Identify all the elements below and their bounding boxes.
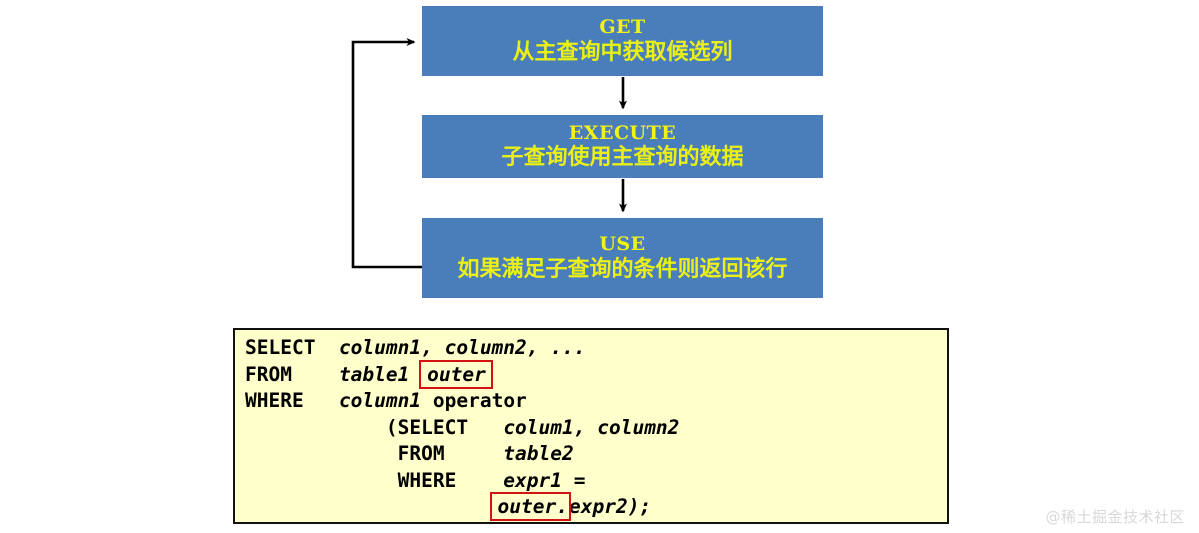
flow-box-get-description: 从主查询中获取候选列 bbox=[512, 40, 732, 66]
sql-outer-table: table1 bbox=[339, 363, 409, 386]
sql-keyword-select: SELECT bbox=[245, 336, 315, 359]
flow-box-execute: EXECUTE 子查询使用主查询的数据 bbox=[422, 115, 823, 178]
sql-code-block: SELECT column1, column2, ... FROM table1… bbox=[233, 328, 949, 524]
arrow-use-back-to-get bbox=[353, 42, 422, 267]
flow-box-execute-keyword: EXECUTE bbox=[569, 122, 677, 144]
sql-select-list: column1, column2, ... bbox=[339, 336, 586, 359]
sql-keyword-from: FROM bbox=[245, 363, 292, 386]
sql-outer-reference-expr: expr2); bbox=[569, 495, 651, 518]
sql-subquery-keyword-select: (SELECT bbox=[386, 416, 468, 439]
flow-box-use-keyword: USE bbox=[599, 233, 645, 255]
watermark: @稀土掘金技术社区 bbox=[1045, 506, 1185, 527]
flow-box-use: USE 如果满足子查询的条件则返回该行 bbox=[422, 218, 823, 298]
sql-subquery-table: table2 bbox=[503, 442, 573, 465]
flow-box-execute-description: 子查询使用主查询的数据 bbox=[501, 145, 743, 171]
sql-outer-alias-highlight: outer bbox=[421, 362, 491, 387]
sql-operator-placeholder: operator bbox=[433, 389, 527, 412]
sql-subquery-where-expr: expr1 = bbox=[503, 469, 585, 492]
flow-box-get: GET 从主查询中获取候选列 bbox=[422, 6, 823, 76]
sql-keyword-where: WHERE bbox=[245, 389, 304, 412]
flow-diagram: GET 从主查询中获取候选列 EXECUTE 子查询使用主查询的数据 USE 如… bbox=[0, 0, 1199, 320]
sql-where-column: column1 bbox=[339, 389, 421, 412]
sql-outer-reference-highlight: outer. bbox=[492, 494, 569, 519]
sql-code-text: SELECT column1, column2, ... FROM table1… bbox=[245, 335, 679, 521]
sql-subquery-keyword-from: FROM bbox=[398, 442, 445, 465]
flow-box-use-description: 如果满足子查询的条件则返回该行 bbox=[457, 257, 787, 283]
flow-box-get-keyword: GET bbox=[599, 16, 645, 38]
sql-subquery-keyword-where: WHERE bbox=[398, 469, 457, 492]
sql-subquery-select-list: colum1, column2 bbox=[503, 416, 679, 439]
